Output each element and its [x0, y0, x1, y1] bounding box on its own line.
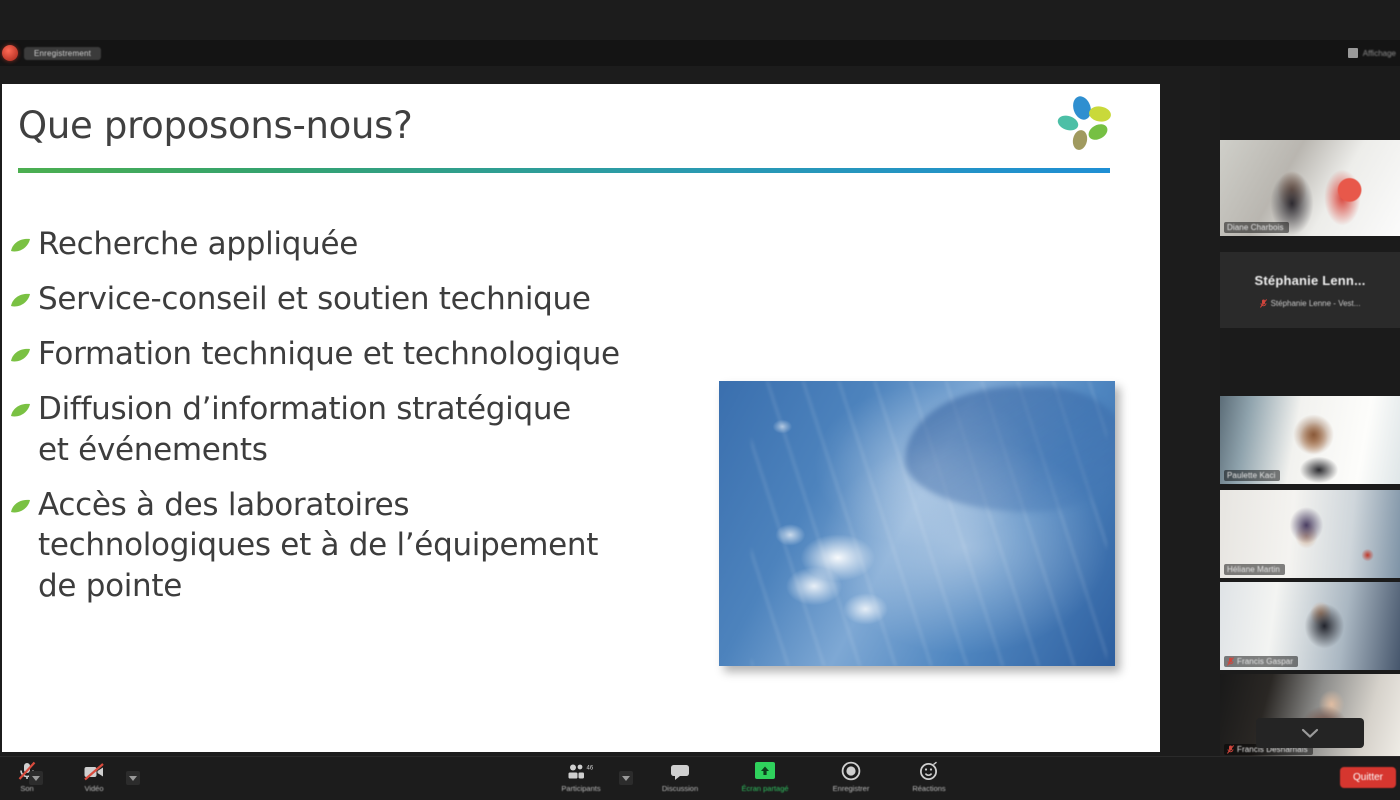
presentation-slide: Que proposons-nous? Recherche appliquée	[2, 84, 1160, 752]
chat-button[interactable]: Discussion	[645, 761, 715, 793]
meeting-top-bar: Enregistrement Affichage	[0, 40, 1400, 66]
audio-label: Son	[20, 784, 33, 793]
list-item: Accès à des laboratoires technologiques …	[10, 485, 710, 608]
record-icon	[841, 761, 861, 781]
participant-name-badge: Héliane Martin	[1224, 564, 1285, 575]
participant-name: Diane Charbois	[1227, 223, 1284, 232]
recording-label: Enregistrement	[24, 47, 101, 60]
participants-label: Participants	[561, 784, 600, 793]
participant-subname: Stéphanie Lenne - Vest...	[1271, 299, 1361, 308]
list-item-label: Accès à des laboratoires technologiques …	[38, 485, 598, 608]
participant-tile[interactable]: Diane Charbois	[1220, 140, 1400, 236]
grid-view-icon	[1348, 48, 1358, 58]
leave-meeting-button[interactable]: Quitter	[1340, 767, 1396, 788]
participant-filmstrip: Diane Charbois Stéphanie Lenn... Stéphan…	[1220, 66, 1400, 756]
vestechpro-pinwheel-logo	[1052, 94, 1116, 154]
view-options[interactable]: Affichage	[1348, 48, 1400, 58]
list-item-label: Recherche appliquée	[38, 224, 358, 265]
record-label: Enregistrer	[833, 784, 870, 793]
participant-name: Stéphanie Lenn...	[1220, 273, 1400, 288]
shared-screen-stage: Que proposons-nous? Recherche appliquée	[0, 66, 1220, 756]
leaf-bullet-icon	[10, 403, 31, 418]
participant-tile[interactable]: Stéphanie Lenn... Stéphanie Lenne - Vest…	[1220, 252, 1400, 328]
participant-name: Héliane Martin	[1227, 565, 1280, 574]
camera-off-icon	[83, 761, 105, 781]
chevron-up-icon	[129, 776, 137, 781]
reactions-button[interactable]: Réactions	[894, 761, 964, 793]
list-item: Recherche appliquée	[10, 224, 710, 265]
share-screen-label: Écran partagé	[741, 784, 788, 793]
participant-tile[interactable]: Paulette Kaci	[1220, 396, 1400, 484]
leaf-bullet-icon	[10, 348, 31, 363]
list-item: Formation technique et technologique	[10, 334, 710, 375]
leaf-bullet-icon	[10, 499, 31, 514]
recording-indicator[interactable]: Enregistrement	[0, 45, 101, 61]
list-item: Diffusion d’information stratégique et é…	[10, 389, 710, 471]
reactions-icon	[919, 761, 939, 781]
mic-muted-icon	[1260, 299, 1267, 308]
svg-text:46: 46	[587, 766, 594, 772]
share-screen-icon	[752, 761, 778, 781]
participant-name: Paulette Kaci	[1227, 471, 1275, 480]
share-screen-button[interactable]: Écran partagé	[730, 761, 800, 793]
participant-tile[interactable]: Francis Gaspar	[1220, 582, 1400, 670]
participant-name-badge: Francis Gaspar	[1224, 656, 1298, 667]
slide-bullet-list: Recherche appliquée Service-conseil et s…	[10, 224, 710, 621]
chevron-up-icon	[32, 776, 40, 781]
participants-button[interactable]: 46 Participants	[543, 761, 619, 793]
leaf-bullet-icon	[10, 293, 31, 308]
zoom-meeting-window: Enregistrement Affichage Que proposons-n…	[0, 0, 1400, 800]
list-item: Service-conseil et soutien technique	[10, 279, 710, 320]
list-item-label: Formation technique et technologique	[38, 334, 620, 375]
participant-name-badge: Paulette Kaci	[1224, 470, 1280, 481]
slide-title: Que proposons-nous?	[18, 104, 413, 147]
filmstrip-scroll-down-button[interactable]	[1256, 718, 1364, 748]
reactions-label: Réactions	[912, 784, 945, 793]
record-dot-icon	[2, 45, 18, 61]
participant-name-badge: Stéphanie Lenne - Vest...	[1220, 299, 1400, 308]
participants-icon: 46	[567, 761, 595, 781]
leaf-bullet-icon	[10, 238, 31, 253]
video-label: Vidéo	[84, 784, 103, 793]
chat-label: Discussion	[662, 784, 698, 793]
participant-tile[interactable]: Héliane Martin	[1220, 490, 1400, 578]
chevron-down-icon	[1301, 728, 1319, 739]
participants-options-button[interactable]	[619, 771, 633, 785]
mic-muted-icon	[1227, 657, 1234, 666]
participant-name: Francis Gaspar	[1237, 657, 1293, 666]
record-button[interactable]: Enregistrer	[816, 761, 886, 793]
mic-muted-icon	[1227, 745, 1234, 754]
title-underline-rule	[18, 168, 1110, 173]
video-button[interactable]: Vidéo	[59, 761, 129, 793]
list-item-label: Diffusion d’information stratégique et é…	[38, 389, 571, 471]
audio-options-button[interactable]	[29, 771, 43, 785]
chevron-up-icon	[622, 776, 630, 781]
chat-bubble-icon	[669, 761, 691, 781]
meeting-controls-toolbar: Son Vidéo	[0, 756, 1400, 800]
view-label: Affichage	[1363, 49, 1396, 58]
participant-name-badge: Diane Charbois	[1224, 222, 1289, 233]
list-item-label: Service-conseil et soutien technique	[38, 279, 591, 320]
slide-photo	[719, 381, 1115, 666]
video-options-button[interactable]	[126, 771, 140, 785]
